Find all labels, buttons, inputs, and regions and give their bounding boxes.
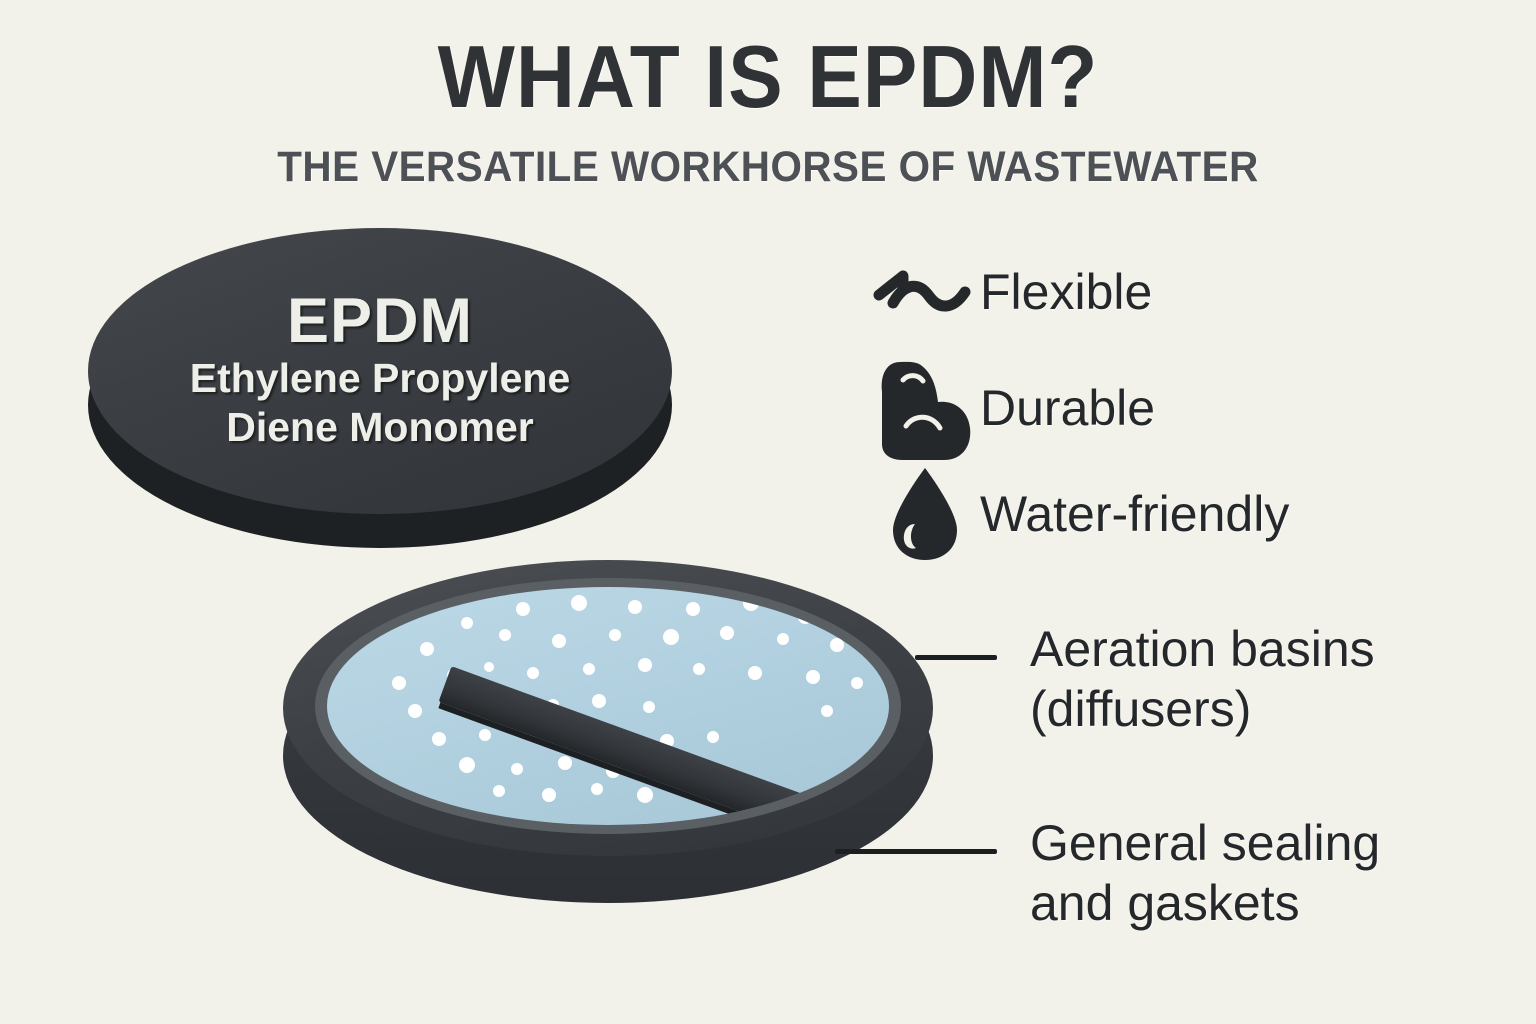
page-title: WHAT IS EPDM? (54, 26, 1482, 128)
water-bubble (707, 731, 719, 743)
water-bubble (643, 701, 655, 713)
water-bubble (511, 763, 523, 775)
water-bubble (432, 732, 446, 746)
water-bubble (484, 662, 494, 672)
water-bubble (552, 634, 566, 648)
feature-row-flexible: Flexible (870, 262, 1152, 322)
water-bubble (638, 658, 652, 672)
water-bubble (583, 663, 595, 675)
water-bubble (571, 595, 587, 611)
water-bubble (558, 756, 572, 770)
water-bubble (748, 666, 762, 680)
water-bubble (806, 670, 820, 684)
callout-sealing-line1: General sealing (1030, 814, 1380, 873)
callout-sealing-line2: and gaskets (1030, 874, 1300, 933)
callout-aeration-line1: Aeration basins (1030, 620, 1375, 679)
epdm-expansion-line2: Diene Monomer (88, 403, 672, 451)
water-bubble (686, 602, 700, 616)
water-bubble (542, 788, 556, 802)
water-bubble (851, 677, 863, 689)
basin-water-surface (327, 587, 889, 825)
epdm-abbreviation: EPDM (88, 288, 672, 354)
infographic-canvas: WHAT IS EPDM? THE VERSATILE WORKHORSE OF… (0, 0, 1536, 1024)
leader-line-aeration (915, 655, 997, 660)
squiggle-wave-icon (870, 262, 980, 322)
feature-label-water-friendly: Water-friendly (980, 485, 1289, 543)
water-bubble (720, 626, 734, 640)
water-droplet-icon (870, 462, 980, 566)
epdm-definition-disc: EPDM Ethylene Propylene Diene Monomer (88, 228, 672, 548)
aeration-basin-illustration (283, 560, 933, 910)
epdm-diffuser-bar (439, 666, 828, 825)
water-bubble (798, 610, 812, 624)
water-bubble (743, 595, 759, 611)
water-bubble (493, 785, 505, 797)
flexed-bicep-icon (870, 352, 980, 464)
water-bubble (459, 757, 475, 773)
water-bubble (479, 729, 491, 741)
water-bubble (693, 663, 705, 675)
feature-label-durable: Durable (980, 379, 1155, 437)
water-bubble (609, 629, 621, 641)
water-bubble (499, 629, 511, 641)
water-bubble (777, 633, 789, 645)
callout-aeration-line2: (diffusers) (1030, 680, 1251, 739)
water-bubble (392, 676, 406, 690)
feature-row-water-friendly: Water-friendly (870, 462, 1289, 566)
page-subtitle: THE VERSATILE WORKHORSE OF WASTEWATER (46, 143, 1490, 192)
water-bubble (830, 638, 844, 652)
water-bubble (420, 642, 434, 656)
water-bubble (516, 602, 530, 616)
feature-row-durable: Durable (870, 352, 1155, 464)
water-bubble (821, 705, 833, 717)
water-bubble (408, 704, 422, 718)
water-bubble (527, 667, 539, 679)
water-bubble (461, 617, 473, 629)
water-bubble (591, 783, 603, 795)
water-bubble (592, 694, 606, 708)
water-bubble (663, 629, 679, 645)
leader-line-sealing (835, 849, 997, 854)
epdm-expansion-line1: Ethylene Propylene (88, 354, 672, 402)
water-bubble (637, 787, 653, 803)
water-bubble (628, 600, 642, 614)
disc-text-block: EPDM Ethylene Propylene Diene Monomer (88, 288, 672, 451)
feature-label-flexible: Flexible (980, 263, 1152, 321)
